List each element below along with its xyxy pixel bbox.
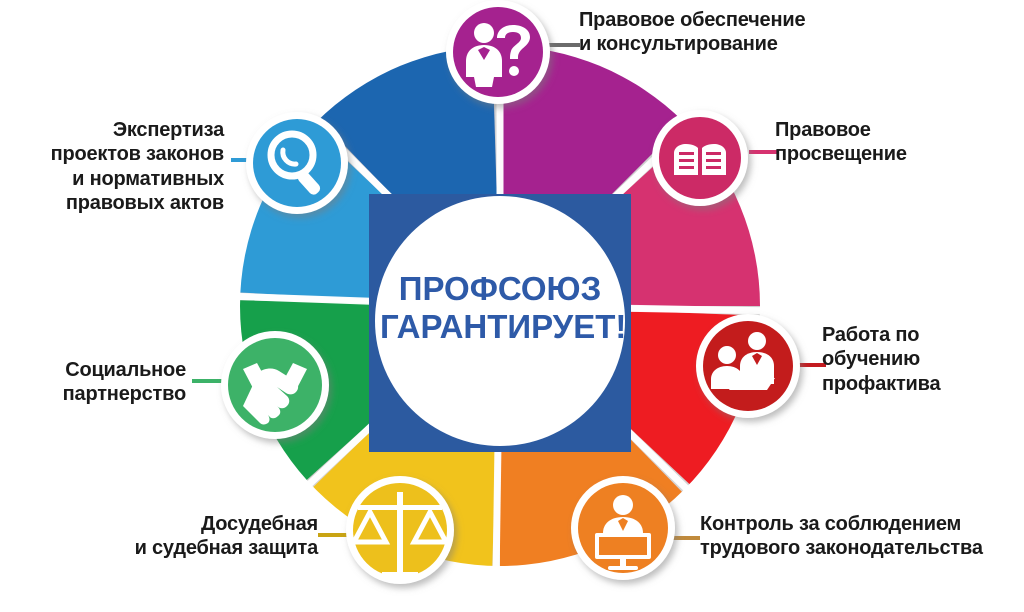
icon-bubble-legal-education[interactable]	[652, 110, 748, 206]
icon-bubble-labor-law-control[interactable]	[571, 476, 675, 580]
label-legal-support: Правовое обеспечение и консультирование	[579, 8, 879, 57]
icon-bubble-training[interactable]	[696, 314, 800, 418]
icon-bubble-court-defense[interactable]	[346, 476, 454, 584]
icon-bubble-law-expertise[interactable]	[246, 112, 348, 214]
icon-bubble-legal-support[interactable]	[446, 0, 550, 104]
label-labor-law-control: Контроль за соблюдением трудового законо…	[700, 512, 1024, 561]
icon-bubble-social-partnership[interactable]	[221, 331, 329, 439]
label-law-expertise: Экспертиза проектов законов и нормативны…	[12, 118, 224, 216]
center-title: ПРОФСОЮЗ ГАРАНТИРУЕТ!	[380, 270, 620, 347]
infographic-canvas: Правовое обеспечение и консультирование …	[0, 0, 1024, 612]
label-legal-education: Правовое просвещение	[775, 118, 1005, 167]
label-training: Работа по обучению профактива	[822, 323, 1022, 396]
open-book-icon-bg	[659, 117, 741, 199]
label-social-partnership: Социальное партнерство	[10, 358, 186, 407]
label-court-defense: Досудебная и судебная защита	[36, 512, 318, 561]
